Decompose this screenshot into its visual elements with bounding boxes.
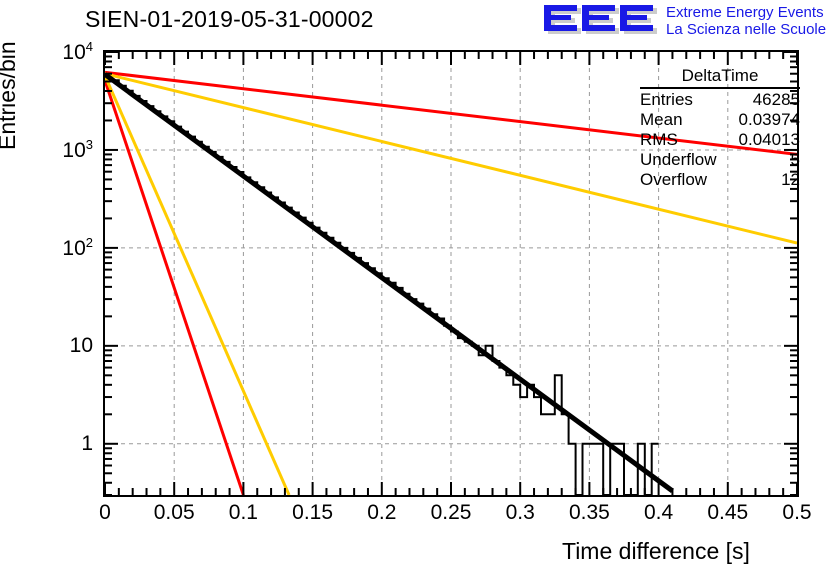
y-tick-label: 1 bbox=[0, 432, 93, 456]
stats-row-value: 5 bbox=[791, 150, 800, 170]
stats-box: DeltaTime Entries46285Mean0.03974RMS0.04… bbox=[640, 66, 800, 190]
stats-row-label: Underflow bbox=[640, 150, 717, 170]
stats-rows: Entries46285Mean0.03974RMS0.04013Underfl… bbox=[640, 90, 800, 190]
x-tick-label: 0.3 bbox=[506, 501, 535, 525]
eee-mark-icon bbox=[542, 5, 660, 37]
stats-row-value: 0.03974 bbox=[739, 110, 800, 130]
eee-logo: Extreme Energy Events La Scienza nelle S… bbox=[542, 4, 834, 40]
stats-row: Underflow5 bbox=[640, 150, 800, 170]
root-canvas: SIEN-01-2019-05-31-00002 bbox=[0, 0, 836, 572]
y-tick-label: 10 bbox=[0, 334, 93, 358]
x-tick-label: 0.35 bbox=[569, 501, 610, 525]
eee-logo-text: Extreme Energy Events La Scienza nelle S… bbox=[666, 4, 826, 38]
x-tick-label: 0.15 bbox=[292, 501, 333, 525]
x-tick-label: 0.5 bbox=[782, 501, 811, 525]
y-tick-label: 103 bbox=[0, 137, 93, 163]
stats-row-label: RMS bbox=[640, 130, 678, 150]
stats-row: Mean0.03974 bbox=[640, 110, 800, 130]
y-tick-label: 104 bbox=[0, 39, 93, 65]
page-title: SIEN-01-2019-05-31-00002 bbox=[85, 6, 374, 33]
eee-logo-line1: Extreme Energy Events bbox=[666, 4, 826, 21]
stats-row: RMS0.04013 bbox=[640, 130, 800, 150]
x-tick-label: 0 bbox=[99, 501, 111, 525]
x-tick-label: 0.4 bbox=[644, 501, 673, 525]
stats-row-label: Mean bbox=[640, 110, 683, 130]
eee-logo-line2: La Scienza nelle Scuole bbox=[666, 21, 826, 38]
stats-row-value: 46285 bbox=[753, 90, 800, 110]
x-tick-label: 0.1 bbox=[229, 501, 258, 525]
x-tick-label: 0.45 bbox=[707, 501, 748, 525]
x-tick-label: 0.05 bbox=[154, 501, 195, 525]
stats-row-value: 12 bbox=[781, 170, 800, 190]
y-tick-label: 102 bbox=[0, 235, 93, 261]
stats-row-label: Entries bbox=[640, 90, 693, 110]
stats-title: DeltaTime bbox=[640, 66, 800, 87]
stats-row: Overflow12 bbox=[640, 170, 800, 190]
x-tick-label: 0.25 bbox=[431, 501, 472, 525]
stats-row: Entries46285 bbox=[640, 90, 800, 110]
x-tick-label: 0.2 bbox=[367, 501, 396, 525]
eee-logo-mark bbox=[542, 5, 660, 37]
stats-rule bbox=[640, 87, 800, 89]
stats-row-label: Overflow bbox=[640, 170, 707, 190]
stats-row-value: 0.04013 bbox=[739, 130, 800, 150]
x-axis-label: Time difference [s] bbox=[562, 538, 750, 565]
